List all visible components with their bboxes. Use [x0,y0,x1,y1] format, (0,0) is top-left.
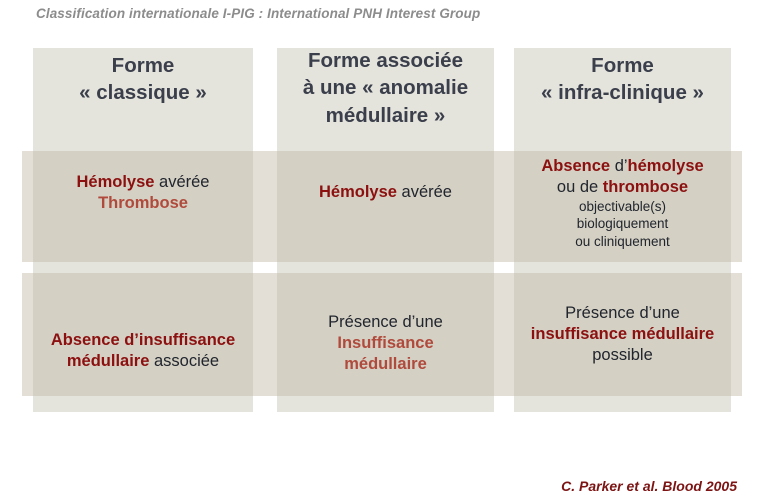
term-hemolyse: hémolyse [628,157,704,175]
connector-ou-de: ou de [557,178,603,196]
term-insuffisance: Insuffisance [277,333,494,354]
lead-presence-dune: Présence d’une [506,303,739,324]
header-cell-anomalie-medullaire: Forme associée à une « anomalie médullai… [277,47,494,129]
header-cell-infra-clinique: Forme « infra-clinique » [514,52,731,107]
cell-row1-col3: Absence d’hémolyse ou de thrombose objec… [514,156,731,250]
header-line: « classique » [33,79,253,106]
qualifier-associee: associée [149,352,219,370]
connector-de: d’ [610,157,627,175]
qualifier-possible: possible [506,345,739,366]
lead-presence-dune: Présence d’une [277,312,494,333]
cell-line: Absence d’hémolyse [514,156,731,177]
term-absence-insuffisance: Absence d’insuffisance [25,330,261,351]
header-line: médullaire » [277,102,494,129]
header-line: Forme associée [277,47,494,74]
term-medullaire: médullaire [67,352,150,370]
term-hemolyse: Hémolyse [76,173,154,191]
term-thrombose: thrombose [603,178,688,196]
slide-title: Classification internationale I-PIG : In… [36,6,736,21]
cell-line: ou de thrombose [514,177,731,198]
qualifier-averee: avérée [397,183,452,201]
cell-row1-col2: Hémolyse avérée [277,182,494,203]
cell-row2-col3: Présence d’une insuffisance médullaire p… [506,303,739,365]
term-insuffisance-medullaire: insuffisance médullaire [506,324,739,345]
cell-row2-col2: Présence d’une Insuffisance médullaire [277,312,494,374]
header-line: Forme [33,52,253,79]
cell-row2-col1: Absence d’insuffisance médullaire associ… [25,330,261,372]
term-medullaire: médullaire [277,354,494,375]
cell-line: Hémolyse avérée [277,182,494,203]
term-thrombose: Thrombose [33,193,253,214]
citation-reference: C. Parker et al. Blood 2005 [561,478,737,494]
detail-objectivable: objectivable(s) [514,198,731,216]
term-hemolyse: Hémolyse [319,183,397,201]
cell-row1-col1: Hémolyse avérée Thrombose [33,172,253,214]
header-line: Forme [514,52,731,79]
slide-canvas: Classification internationale I-PIG : In… [0,0,759,504]
header-line: « infra-clinique » [514,79,731,106]
qualifier-averee: avérée [154,173,209,191]
term-absence: Absence [541,157,610,175]
header-line: à une « anomalie [277,74,494,101]
cell-line: médullaire associée [25,351,261,372]
header-cell-classique: Forme « classique » [33,52,253,107]
cell-line: Hémolyse avérée [33,172,253,193]
detail-biologiquement: biologiquement [514,215,731,233]
detail-ou-cliniquement: ou cliniquement [514,233,731,251]
